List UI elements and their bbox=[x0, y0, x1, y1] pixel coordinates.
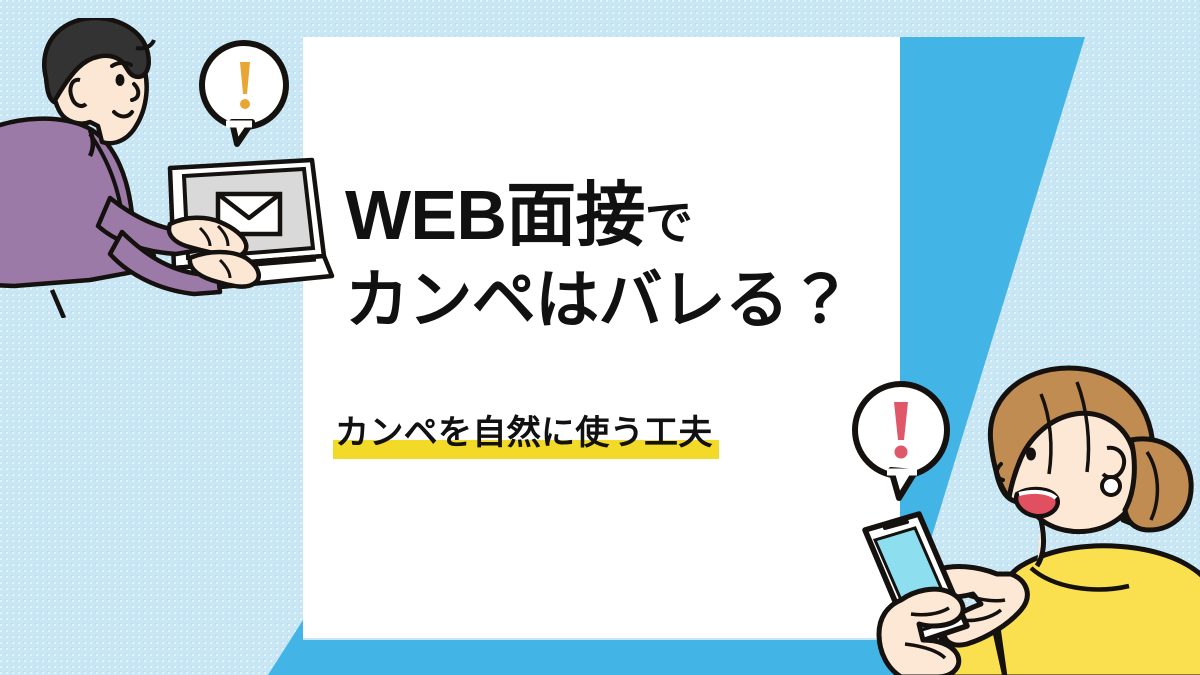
speech-bubble-left bbox=[202, 43, 286, 144]
headline-line1-main: WEB面接 bbox=[345, 176, 645, 254]
blue-triangle-right bbox=[900, 37, 1085, 640]
earring-icon bbox=[1102, 477, 1120, 495]
woman-head bbox=[990, 368, 1191, 532]
exclamation-icon bbox=[240, 62, 250, 109]
headline-block: WEB面接で カンペはバレる？ bbox=[303, 180, 900, 332]
headline-line-2: カンペはバレる？ bbox=[303, 268, 900, 332]
woman-body bbox=[941, 546, 1200, 675]
subheadline-text: カンペを自然に使う工夫 bbox=[335, 414, 713, 452]
blue-band-bottom bbox=[268, 640, 1200, 675]
woman-pointing-hand bbox=[923, 567, 1027, 646]
headline-line1-suffix: で bbox=[645, 197, 692, 250]
envelope-icon bbox=[218, 194, 280, 234]
man-arms bbox=[98, 198, 259, 294]
headline-line-1: WEB面接で bbox=[303, 180, 900, 250]
blue-wedge-bottom-left bbox=[268, 620, 303, 675]
man-body bbox=[0, 119, 154, 318]
illustration-man-laptop bbox=[0, 18, 344, 318]
man-head bbox=[44, 18, 154, 156]
white-content-card bbox=[303, 37, 900, 638]
subheadline-wrap: カンペを自然に使う工夫 bbox=[303, 412, 900, 455]
woman-eye bbox=[1026, 448, 1036, 461]
banner-root: WEB面接で カンペはバレる？ カンペを自然に使う工夫 bbox=[0, 0, 1200, 675]
man-eye bbox=[116, 74, 125, 86]
subheadline: カンペを自然に使う工夫 bbox=[335, 412, 713, 455]
